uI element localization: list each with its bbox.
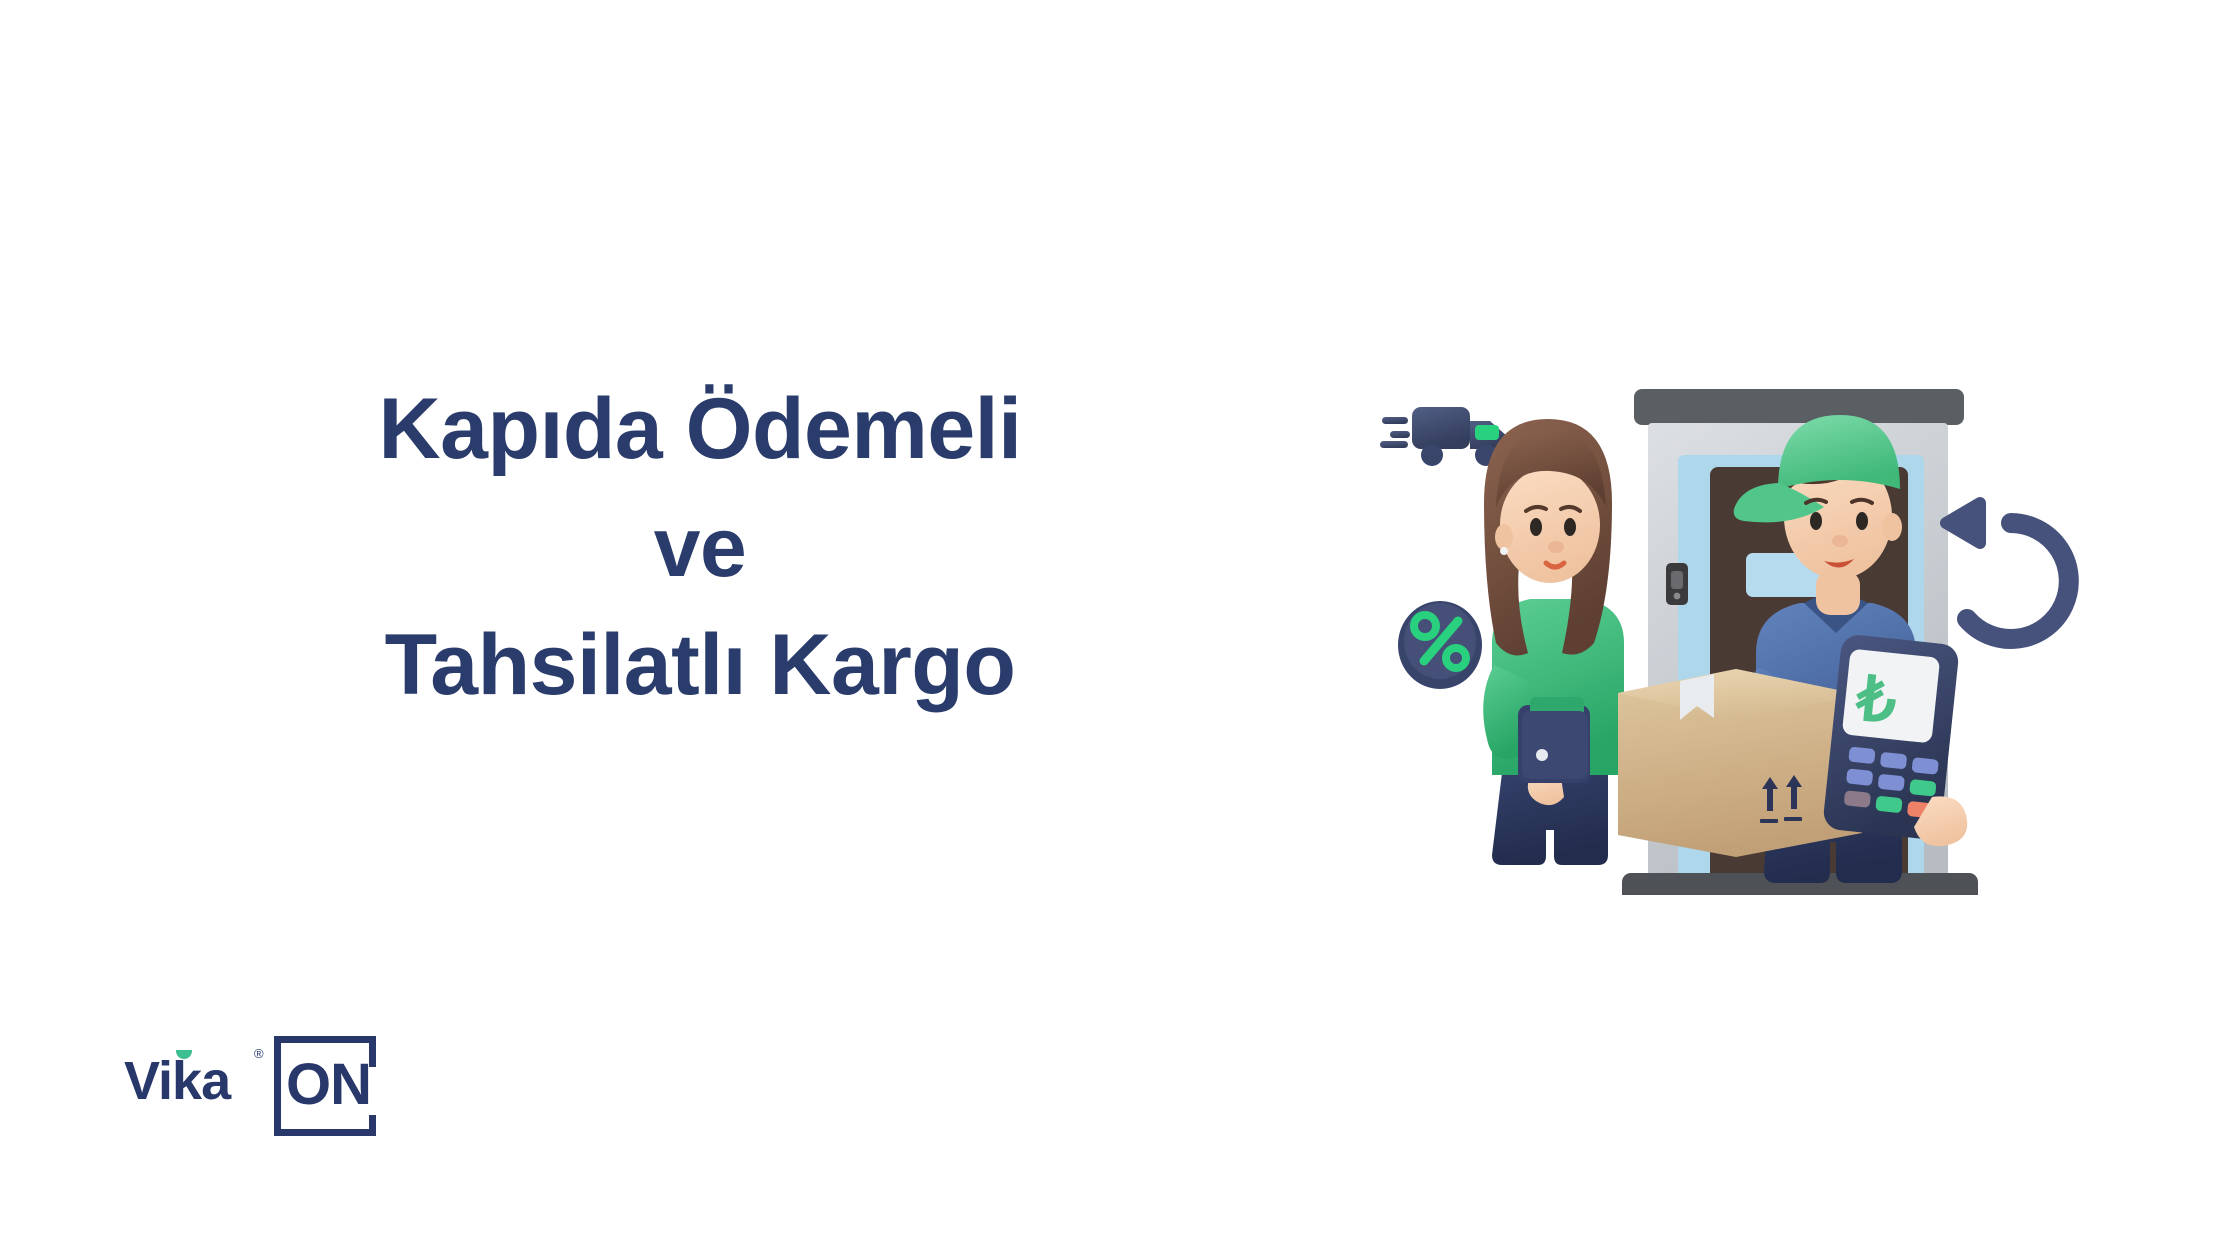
registered-trademark-icon: ® bbox=[254, 1046, 264, 1061]
headline-line-1: Kapıda Ödemeli bbox=[200, 370, 1200, 488]
logo-wordmark: Vika bbox=[124, 1054, 230, 1108]
page-title: Kapıda Ödemeli ve Tahsilatlı Kargo bbox=[200, 370, 1200, 724]
headline-line-2: ve bbox=[200, 488, 1200, 606]
customer-woman bbox=[1483, 419, 1624, 865]
logo-badge-text: ON bbox=[286, 1056, 371, 1114]
headline-line-3: Tahsilatlı Kargo bbox=[200, 606, 1200, 724]
brand-logo[interactable]: Vika ® ON bbox=[124, 1030, 364, 1145]
svg-text:₺: ₺ bbox=[1851, 664, 1899, 737]
poster-canvas: Kapıda Ödemeli ve Tahsilatlı Kargo Vika … bbox=[0, 0, 2240, 1260]
hero-illustration: ₺ bbox=[1380, 375, 2100, 895]
wallet bbox=[1518, 697, 1590, 783]
parcel-box bbox=[1618, 669, 1862, 857]
return-arrow-icon bbox=[1946, 503, 2069, 639]
pos-terminal: ₺ bbox=[1822, 633, 1967, 846]
discount-percent-icon bbox=[1398, 601, 1482, 689]
delivery-truck-icon bbox=[1380, 407, 1508, 466]
